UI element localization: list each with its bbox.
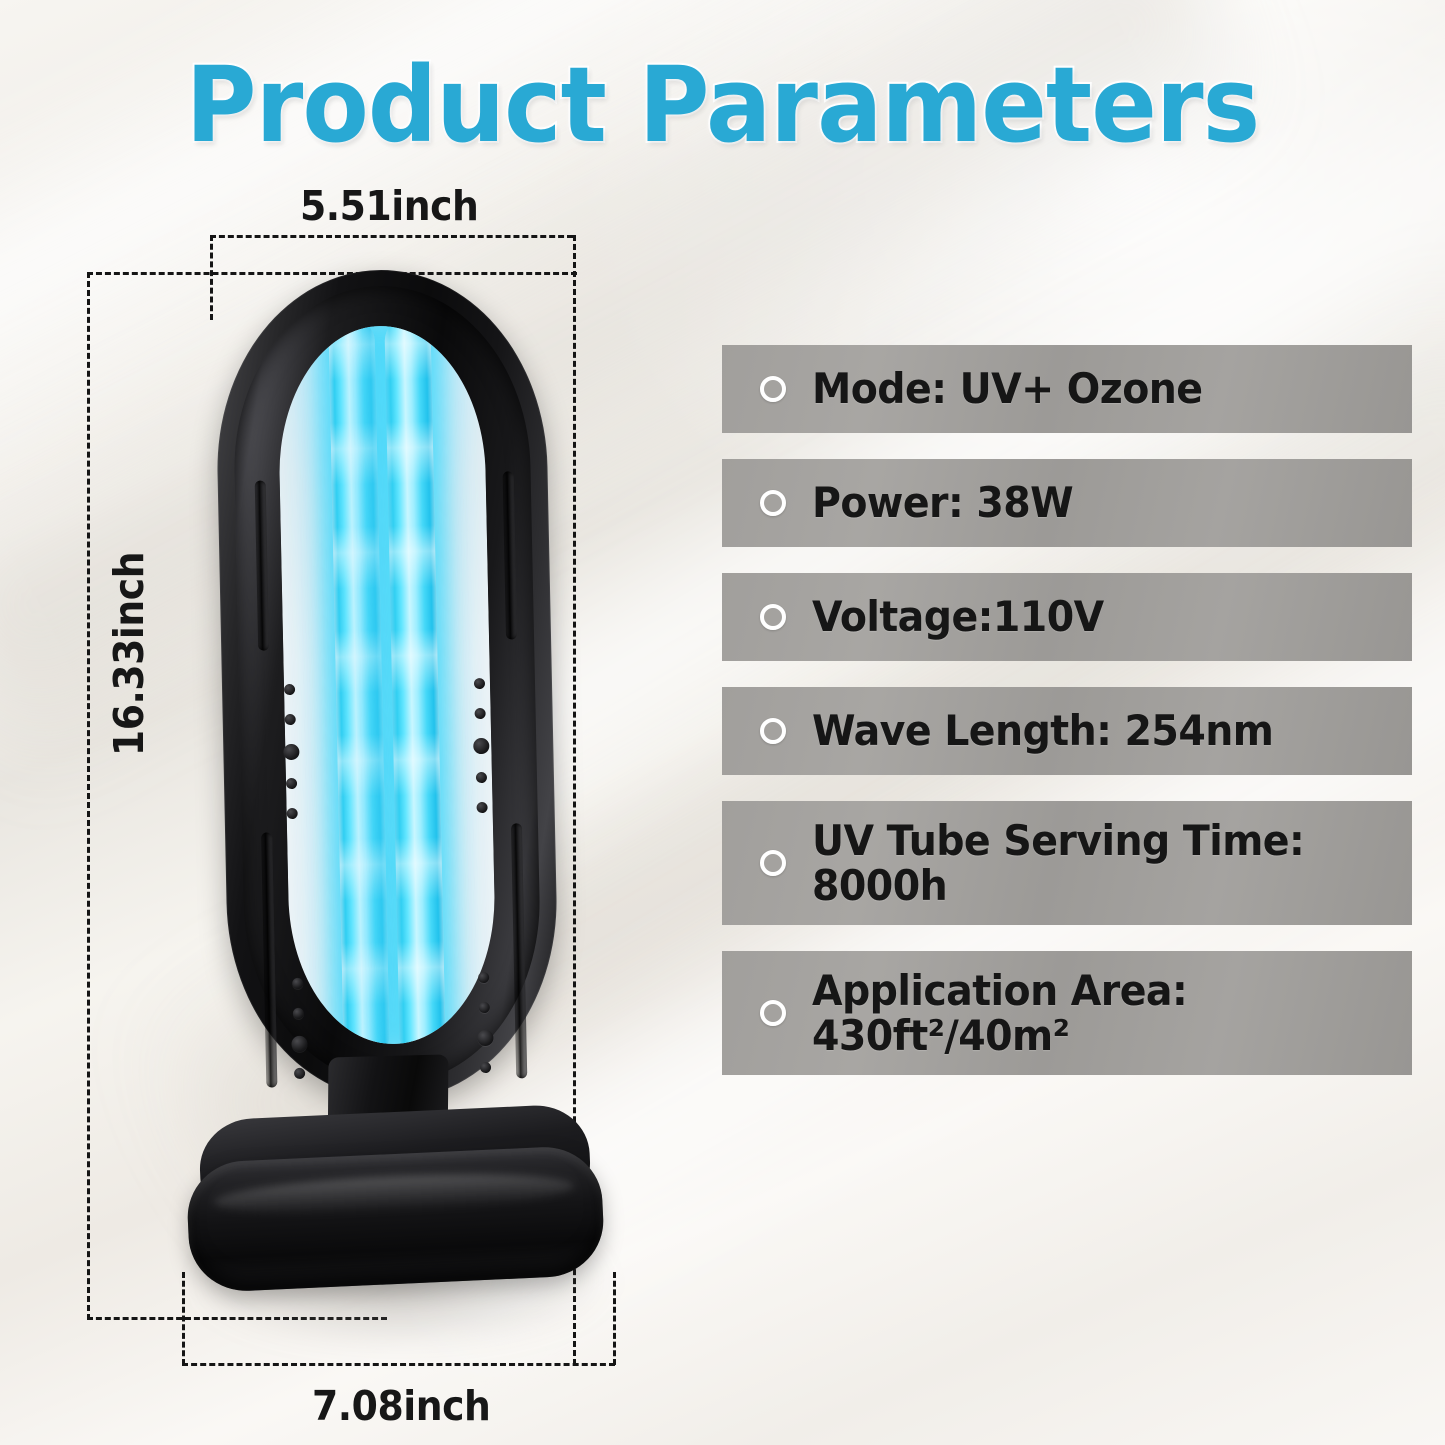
spec-row-mode: Mode: UV+ Ozone [722, 345, 1412, 433]
spec-line-1: Application Area: [812, 966, 1187, 1015]
uv-tube-right [384, 324, 445, 1046]
panel-dot-left-8 [291, 1036, 307, 1052]
spec-text-application-area: Application Area:430ft²/40m² [812, 968, 1187, 1059]
page-title: Product Parameters [51, 44, 1395, 166]
lamp-outer-frame [213, 267, 560, 1104]
spec-row-voltage: Voltage:110V [722, 573, 1412, 661]
uv-tube-left [328, 324, 389, 1046]
spec-row-power: Power: 38W [722, 459, 1412, 547]
circle-ring-bullet-icon [760, 604, 786, 630]
specification-list: Mode: UV+ Ozone Power: 38W Voltage:110V … [722, 345, 1412, 1101]
panel-dot-left-9 [294, 1068, 305, 1079]
spec-line-2: 430ft²/40m² [812, 1013, 1187, 1058]
spec-text-mode: Mode: UV+ Ozone [812, 366, 1203, 411]
circle-ring-bullet-icon [760, 490, 786, 516]
lamp-light-cavity [277, 324, 498, 1046]
product-parameters-infographic: Product Parameters 5.51inch 16.33inch 7.… [0, 0, 1445, 1445]
panel-dot-right-8 [477, 1030, 493, 1046]
dimension-label-width-top: 5.51inch [300, 182, 478, 230]
product-image-uv-sterilizer-lamp [178, 256, 628, 1336]
spec-row-uv-tube-serving-time: UV Tube Serving Time:8000h [722, 801, 1412, 925]
spec-text-power: Power: 38W [812, 480, 1073, 525]
circle-ring-bullet-icon [760, 1000, 786, 1026]
spec-line-1: UV Tube Serving Time: [812, 816, 1304, 865]
spec-line-2: 8000h [812, 863, 1304, 908]
lamp-base-pedestal [185, 1145, 605, 1294]
circle-ring-bullet-icon [760, 718, 786, 744]
dimension-label-width-bottom: 7.08inch [312, 1382, 490, 1430]
spec-text-wave-length: Wave Length: 254nm [812, 708, 1273, 753]
dimension-label-height: 16.33inch [105, 552, 153, 756]
spec-text-uv-tube-serving-time: UV Tube Serving Time:8000h [812, 818, 1304, 909]
dim-bottom-width-line [182, 1363, 615, 1366]
panel-dot-right-9 [480, 1062, 491, 1073]
dim-height-left-line [87, 272, 90, 1320]
spec-row-application-area: Application Area:430ft²/40m² [722, 951, 1412, 1075]
spec-text-voltage: Voltage:110V [812, 594, 1104, 639]
dim-top-width-line [210, 235, 573, 238]
circle-ring-bullet-icon [760, 376, 786, 402]
circle-ring-bullet-icon [760, 850, 786, 876]
spec-row-wave-length: Wave Length: 254nm [722, 687, 1412, 775]
